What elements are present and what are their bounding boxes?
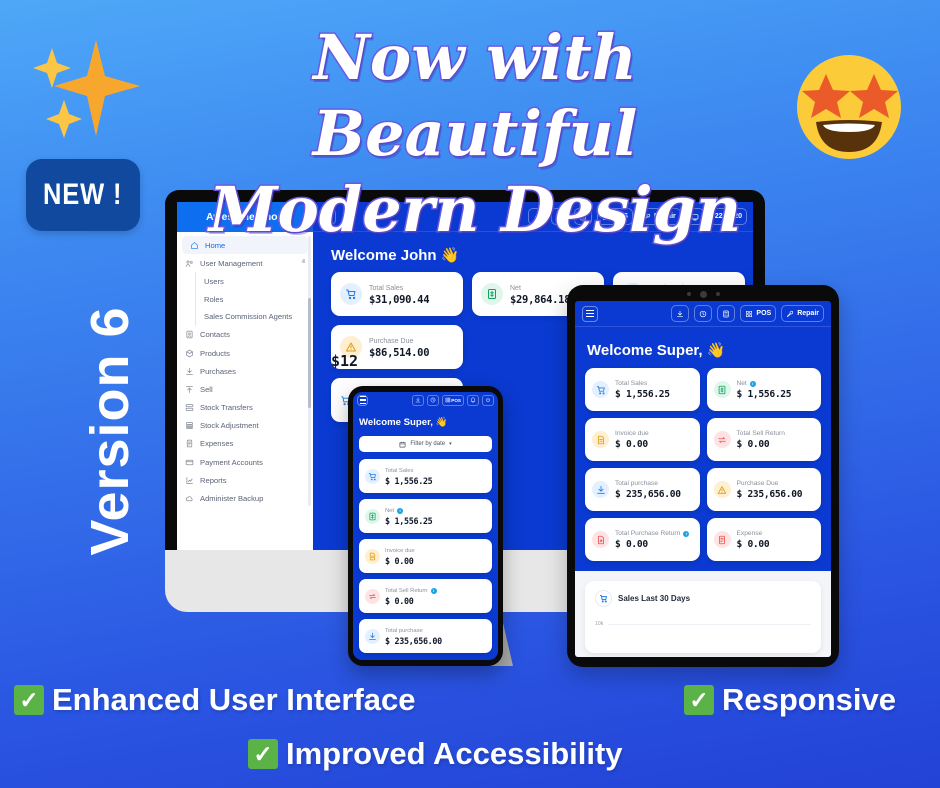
receipt-icon-wrap xyxy=(714,531,731,548)
download-icon xyxy=(415,397,421,403)
sparkles-icon xyxy=(24,28,152,143)
stat-card-net[interactable]: Net i$ 1,556.25 xyxy=(707,368,822,411)
stat-card-value: $ 235,656.00 xyxy=(615,489,681,500)
invoice-icon-wrap xyxy=(365,549,380,564)
tablet-welcome-text: Welcome Super, 👋 xyxy=(575,327,831,368)
sidebar-item-label: Administer Backup xyxy=(200,494,299,503)
tablet-stat-cards: Total Sales$ 1,556.25Net i$ 1,556.25Invo… xyxy=(575,368,831,561)
sidebar-item-label: Sell xyxy=(200,385,299,394)
invoice-icon xyxy=(596,435,606,445)
chart-y-tick: 10k xyxy=(595,621,603,627)
chart-gridline xyxy=(608,624,811,625)
phone-welcome-text: Welcome Super, 👋 xyxy=(353,408,498,436)
sidebar-subitem-roles[interactable]: Roles xyxy=(195,290,313,308)
stat-card-total-sell-return[interactable]: Total Sell Return$ 0.00 xyxy=(707,418,822,461)
stat-card-invoice-due[interactable]: Invoice due$ 0.00 xyxy=(585,418,700,461)
bell-icon[interactable] xyxy=(467,395,479,406)
users-icon xyxy=(185,259,194,268)
stat-card-total-sales[interactable]: Total Sales$31,090.44 xyxy=(331,272,463,316)
download-icon[interactable] xyxy=(412,395,424,406)
contacts-icon xyxy=(185,330,194,339)
feature-item-1: ✓ Enhanced User Interface xyxy=(14,682,416,718)
stat-card-invoice-due[interactable]: Invoice due$ 0.00 xyxy=(359,539,492,573)
stat-card-value: $ 0.00 xyxy=(385,556,415,566)
stat-card-value: $ 1,556.25 xyxy=(615,389,670,400)
stat-card-label: Total Sell Return xyxy=(737,429,785,439)
check-mark-icon: ✓ xyxy=(684,685,714,715)
sidebar-item-stock-transfers[interactable]: Stock Transfersⱟ xyxy=(177,398,313,416)
page-headline: Now with Beautiful Modern Design xyxy=(150,20,800,248)
info-icon[interactable]: i xyxy=(431,588,437,594)
sidebar-item-label: Products xyxy=(200,349,299,358)
cart-icon xyxy=(595,590,612,607)
power-icon xyxy=(485,397,491,403)
stat-card-value: $86,514.00 xyxy=(369,347,429,359)
stat-card-total-sell-return[interactable]: Total Sell Return i$ 0.00 xyxy=(359,579,492,613)
stat-card-label: Total Sell Return i xyxy=(385,587,437,596)
toolbar-button-label: POS xyxy=(451,398,461,403)
stat-card-value: $29,864.18 xyxy=(510,294,570,306)
sales-chart-axis: 10k xyxy=(595,621,811,627)
download-icon-wrap xyxy=(365,629,380,644)
purchase-return-icon-wrap xyxy=(592,531,609,548)
card-icon xyxy=(185,458,194,467)
invoice-icon xyxy=(368,552,377,561)
info-icon[interactable]: i xyxy=(397,508,403,514)
feature-item-2: ✓ Responsive xyxy=(684,682,896,718)
stat-card-label: Expense xyxy=(737,529,770,539)
stat-card-label: Invoice due xyxy=(385,547,415,556)
stat-card-label: Net i xyxy=(385,507,432,516)
download-icon xyxy=(676,310,684,318)
money-icon-wrap xyxy=(714,381,731,398)
feature-item-3: ✓ Improved Accessibility xyxy=(248,736,623,772)
layers-icon xyxy=(185,421,194,430)
box-icon xyxy=(185,349,194,358)
money-icon-wrap xyxy=(365,509,380,524)
stat-card-label: Purchase Due xyxy=(737,479,803,489)
repair-button[interactable]: Repair xyxy=(781,305,824,322)
stat-card-value: $ 0.00 xyxy=(615,439,649,450)
sidebar-item-sell[interactable]: Sellⱟ xyxy=(177,380,313,398)
stat-card-net[interactable]: Net i$ 1,556.25 xyxy=(359,499,492,533)
stat-card-value: $ 0.00 xyxy=(385,596,437,606)
sidebar-item-label: Reports xyxy=(200,476,299,485)
sidebar-item-payment-accounts[interactable]: Payment Accountsⱟ xyxy=(177,453,313,471)
money-icon xyxy=(368,512,377,521)
cart-icon-wrap xyxy=(340,283,362,305)
info-icon[interactable]: i xyxy=(750,381,756,387)
download-icon-wrap xyxy=(592,481,609,498)
cloud-icon xyxy=(185,494,194,503)
cart-icon xyxy=(345,288,357,300)
stat-card-partial-value: $12 xyxy=(331,352,358,370)
tablet-mockup: POSRepair Welcome Super, 👋 Total Sales$ … xyxy=(567,285,839,667)
desktop-sidebar-menu: HomeUser ManagementⱏUsersRolesSales Comm… xyxy=(177,232,313,508)
sidebar-item-label: Stock Transfers xyxy=(200,403,299,412)
sidebar-item-reports[interactable]: Reportsⱟ xyxy=(177,471,313,489)
phone-toolbar: POS xyxy=(353,392,498,408)
sidebar-item-label: Payment Accounts xyxy=(200,458,299,467)
receipt-icon xyxy=(717,535,727,545)
phone-mockup: POS Welcome Super, 👋 Filter by date ▾ To… xyxy=(348,386,503,666)
pos-button[interactable]: POS xyxy=(442,395,464,406)
warning-icon-wrap xyxy=(714,481,731,498)
clock-icon[interactable] xyxy=(427,395,439,406)
invoice-icon-wrap xyxy=(592,431,609,448)
sidebar-subitem-sales-commission-agents[interactable]: Sales Commission Agents xyxy=(195,308,313,326)
calculator-icon xyxy=(722,310,730,318)
tablet-screen: POSRepair Welcome Super, 👋 Total Sales$ … xyxy=(575,301,831,657)
feature-list: ✓ Enhanced User Interface ✓ Responsive ✓… xyxy=(0,672,940,788)
tablet-camera-dots xyxy=(567,290,839,298)
sidebar-item-label: Stock Adjustment xyxy=(200,421,299,430)
hamburger-icon[interactable] xyxy=(582,306,598,322)
clock-icon xyxy=(430,397,436,403)
stat-card-value: $ 1,556.25 xyxy=(385,516,432,526)
sales-chart-card: Sales Last 30 Days 10k xyxy=(585,581,821,653)
download-icon[interactable] xyxy=(671,305,689,322)
sidebar-item-purchases[interactable]: Purchasesⱟ xyxy=(177,362,313,380)
stat-card-label: Net i xyxy=(737,379,792,389)
sidebar-item-label: Purchases xyxy=(200,367,299,376)
stat-card-label: Total Sales xyxy=(369,283,429,294)
stat-card-value: $ 1,556.25 xyxy=(385,476,432,486)
toolbar-button-label: Repair xyxy=(797,310,819,317)
stat-card-expense[interactable]: Expense$ 0.00 xyxy=(707,518,822,561)
stat-card-value: $31,090.44 xyxy=(369,294,429,306)
new-badge-label: NEW ! xyxy=(43,178,122,212)
stat-card-label: Purchase Due xyxy=(369,336,429,347)
sidebar-item-stock-adjustment[interactable]: Stock Adjustmentⱟ xyxy=(177,417,313,435)
headline-line-1: Now with Beautiful xyxy=(150,20,800,172)
stat-card-label: Total Purchase Return i xyxy=(615,529,689,539)
sales-chart-title: Sales Last 30 Days xyxy=(618,594,690,603)
phone-stat-cards: Total Sales$ 1,556.25Net i$ 1,556.25Invo… xyxy=(353,452,498,653)
stat-card-total-purchase-return[interactable]: Total Purchase Return i$ 0.00 xyxy=(585,518,700,561)
receipt-icon xyxy=(185,439,194,448)
check-mark-icon: ✓ xyxy=(14,685,44,715)
desktop-sidebar: Awesome Shop HomeUser ManagementⱏUsersRo… xyxy=(177,202,313,550)
money-icon xyxy=(717,385,727,395)
stat-card-label: Invoice due xyxy=(615,429,649,439)
cart-icon xyxy=(368,472,377,481)
clock-icon xyxy=(699,310,707,318)
power-icon[interactable] xyxy=(482,395,494,406)
stat-card-value: $ 0.00 xyxy=(737,439,785,450)
hamburger-icon[interactable] xyxy=(357,395,368,406)
chart-icon xyxy=(185,476,194,485)
phone-screen: POS Welcome Super, 👋 Filter by date ▾ To… xyxy=(353,392,498,660)
warning-icon xyxy=(717,485,727,495)
stat-card-value: $ 0.00 xyxy=(737,539,770,550)
return-icon-wrap xyxy=(714,431,731,448)
new-badge: NEW ! xyxy=(26,159,140,231)
stat-card-value: $ 0.00 xyxy=(615,539,689,550)
download-icon xyxy=(368,632,377,641)
stat-card-total-purchase[interactable]: Total purchase$ 235,656.00 xyxy=(585,468,700,511)
sidebar-subitem-users[interactable]: Users xyxy=(195,272,313,290)
pos-button[interactable]: POS xyxy=(740,305,776,322)
sidebar-item-expenses[interactable]: Expensesⱟ xyxy=(177,435,313,453)
purchase-return-icon xyxy=(596,535,606,545)
filter-by-date-dropdown[interactable]: Filter by date ▾ xyxy=(359,436,492,452)
wrench-icon xyxy=(786,310,794,318)
stat-card-total-sales[interactable]: Total Sales$ 1,556.25 xyxy=(359,459,492,493)
stat-card-label: Total Sales xyxy=(385,467,432,476)
version-label: Version 6 xyxy=(79,266,141,596)
sidebar-scrollbar[interactable] xyxy=(308,236,311,506)
download-icon xyxy=(185,367,194,376)
star-struck-icon xyxy=(790,48,908,166)
return-icon xyxy=(368,592,377,601)
stat-card-value: $ 1,556.25 xyxy=(737,389,792,400)
feature-label-3: Improved Accessibility xyxy=(286,736,623,772)
cart-icon xyxy=(596,385,606,395)
grid-icon xyxy=(745,310,753,318)
stat-card-label: Total Sales xyxy=(615,379,670,389)
cart-icon-wrap xyxy=(592,381,609,398)
feature-label-1: Enhanced User Interface xyxy=(52,682,416,718)
headline-line-2: Modern Design xyxy=(150,172,800,248)
download-icon xyxy=(596,485,606,495)
sidebar-item-label: Expenses xyxy=(200,439,299,448)
cart-icon-wrap xyxy=(365,469,380,484)
sidebar-item-user-management[interactable]: User Managementⱏ xyxy=(177,254,313,272)
clock-icon[interactable] xyxy=(694,305,712,322)
calendar-icon xyxy=(399,441,406,448)
return-icon-wrap xyxy=(365,589,380,604)
upload-icon xyxy=(185,385,194,394)
sidebar-item-contacts[interactable]: Contactsⱟ xyxy=(177,326,313,344)
filter-by-date-label: Filter by date xyxy=(410,441,445,447)
tablet-chart-panel: Sales Last 30 Days 10k xyxy=(575,571,831,657)
info-icon[interactable]: i xyxy=(683,531,689,537)
chevron-down-icon: ▾ xyxy=(449,441,452,447)
stat-card-label: Net xyxy=(510,283,570,294)
tablet-toolbar: POSRepair xyxy=(575,301,831,327)
toolbar-button-label: POS xyxy=(756,310,771,317)
stat-card-purchase-due[interactable]: Purchase Due$ 235,656.00 xyxy=(707,468,822,511)
money-icon xyxy=(486,288,498,300)
calculator-icon[interactable] xyxy=(717,305,735,322)
money-icon-wrap xyxy=(481,283,503,305)
sidebar-item-products[interactable]: Productsⱟ xyxy=(177,344,313,362)
bell-icon xyxy=(470,397,476,403)
transfer-icon xyxy=(185,403,194,412)
sidebar-item-administer-backup[interactable]: Administer Backup xyxy=(177,489,313,507)
stat-card-label: Total purchase xyxy=(385,627,442,636)
chevron-down-icon: ⱏ xyxy=(302,259,305,267)
sidebar-submenu: UsersRolesSales Commission Agents xyxy=(177,272,313,325)
return-icon xyxy=(717,435,727,445)
check-mark-icon: ✓ xyxy=(248,739,278,769)
stat-card-total-purchase[interactable]: Total purchase$ 235,656.00 xyxy=(359,619,492,653)
sidebar-item-label: Contacts xyxy=(200,330,299,339)
stat-card-label: Total purchase xyxy=(615,479,681,489)
stat-card-total-sales[interactable]: Total Sales$ 1,556.25 xyxy=(585,368,700,411)
feature-label-2: Responsive xyxy=(722,682,896,718)
stat-card-value: $ 235,656.00 xyxy=(385,636,442,646)
sidebar-item-label: User Management xyxy=(200,259,296,268)
stat-card-value: $ 235,656.00 xyxy=(737,489,803,500)
